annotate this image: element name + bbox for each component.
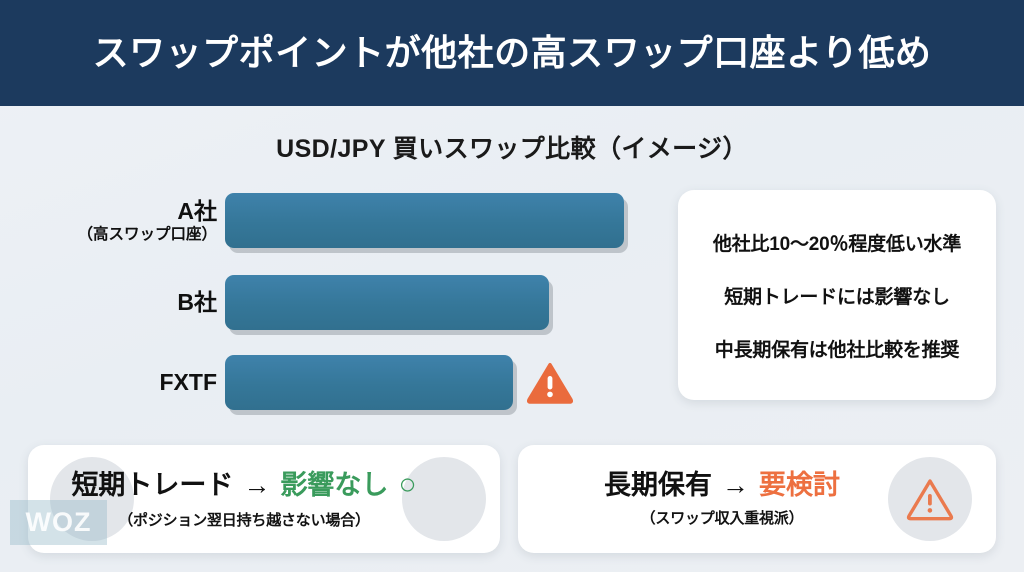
- bar-label-b: B社: [0, 290, 225, 316]
- card-short-term-sub: （ポジション翌日持ち越さない場合）: [118, 509, 370, 530]
- bar-fill-fxtf: [225, 355, 513, 410]
- card-long-term-sub: （スワップ収入重視派）: [641, 507, 804, 528]
- card-short-term-headline: 短期トレード → 影響なし ○: [71, 468, 416, 503]
- info-box: 他社比10〜20％程度低い水準 短期トレードには影響なし 中長期保有は他社比較を…: [678, 190, 996, 400]
- bar-track-a: [225, 193, 660, 249]
- warning-triangle-icon: [527, 362, 573, 404]
- info-line-1: 他社比10〜20％程度低い水準: [713, 229, 961, 256]
- woz-watermark-text: WOZ: [26, 509, 92, 536]
- info-line-2: 短期トレードには影響なし: [724, 282, 950, 309]
- slide-root: スワップポイントが他社の高スワップ口座より低め USD/JPY 買いスワップ比較…: [0, 0, 1024, 572]
- bar-track-b: [225, 275, 660, 331]
- card-long-term-prefix: 長期保有: [604, 470, 712, 501]
- bar-label-fxtf-main: FXTF: [0, 370, 217, 396]
- bar-label-a-main: A社: [0, 199, 217, 225]
- card-short-term-prefix: 短期トレード: [71, 470, 233, 501]
- bar-label-a: A社 （高スワップ口座）: [0, 199, 225, 243]
- bar-fill-a: [225, 193, 624, 248]
- card-long-term-headline: 長期保有 → 要検討: [604, 470, 840, 501]
- card-long-term: 長期保有 → 要検討 （スワップ収入重視派）: [518, 445, 996, 553]
- card-long-term-accent: 要検討: [759, 470, 840, 501]
- info-line-3: 中長期保有は他社比較を推奨: [715, 335, 959, 362]
- bar-label-b-main: B社: [0, 290, 217, 316]
- bar-track-fxtf: [225, 355, 660, 411]
- chart-row-fxtf: FXTF: [0, 355, 660, 411]
- chart-row-b: B社: [0, 275, 660, 331]
- bar-fill-b: [225, 275, 549, 330]
- card-short-term-accent: 影響なし: [280, 470, 388, 501]
- ok-circle-icon: ○: [398, 468, 416, 503]
- bar-label-fxtf: FXTF: [0, 370, 225, 396]
- chart-title: USD/JPY 買いスワップ比較（イメージ）: [0, 129, 1024, 165]
- header-bar: スワップポイントが他社の高スワップ口座より低め: [0, 0, 1024, 106]
- bar-label-a-sub: （高スワップ口座）: [0, 226, 217, 243]
- arrow-right-icon: →: [243, 470, 270, 501]
- chart-row-a: A社 （高スワップ口座）: [0, 193, 660, 249]
- woz-watermark: WOZ: [10, 500, 107, 545]
- card-long-term-content: 長期保有 → 要検討 （スワップ収入重視派）: [518, 445, 996, 553]
- page-title: スワップポイントが他社の高スワップ口座より低め: [93, 33, 932, 73]
- arrow-right-icon: →: [722, 470, 749, 501]
- bar-chart: A社 （高スワップ口座） B社 FXTF: [0, 186, 660, 418]
